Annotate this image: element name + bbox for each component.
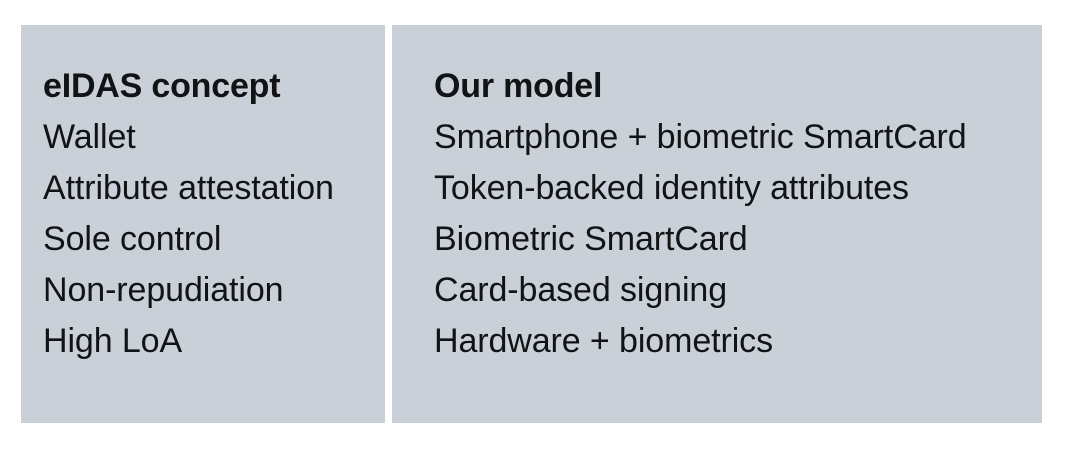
slide-canvas: eIDAS concept Wallet Attribute attestati… (0, 0, 1068, 450)
our-model-row-card-based-signing: Card-based signing (434, 265, 1028, 316)
column-our-model: Our model Smartphone + biometric SmartCa… (392, 25, 1042, 423)
our-model-row-token-backed-identity-attributes: Token-backed identity attributes (434, 163, 1028, 214)
column-eidas-concept: eIDAS concept Wallet Attribute attestati… (21, 25, 385, 423)
eidas-concept-row-attribute-attestation: Attribute attestation (43, 163, 375, 214)
our-model-row-hardware-biometrics: Hardware + biometrics (434, 316, 1028, 367)
column-our-model-header: Our model (434, 61, 1028, 112)
eidas-concept-row-high-loa: High LoA (43, 316, 375, 367)
our-model-row-smartphone-biometric-smartcard: Smartphone + biometric SmartCard (434, 112, 1028, 163)
column-divider (385, 25, 392, 423)
eidas-concept-row-sole-control: Sole control (43, 214, 375, 265)
column-eidas-concept-header: eIDAS concept (43, 61, 375, 112)
eidas-concept-row-non-repudiation: Non-repudiation (43, 265, 375, 316)
eidas-concept-row-wallet: Wallet (43, 112, 375, 163)
our-model-row-biometric-smartcard: Biometric SmartCard (434, 214, 1028, 265)
comparison-panel: eIDAS concept Wallet Attribute attestati… (21, 25, 1042, 423)
